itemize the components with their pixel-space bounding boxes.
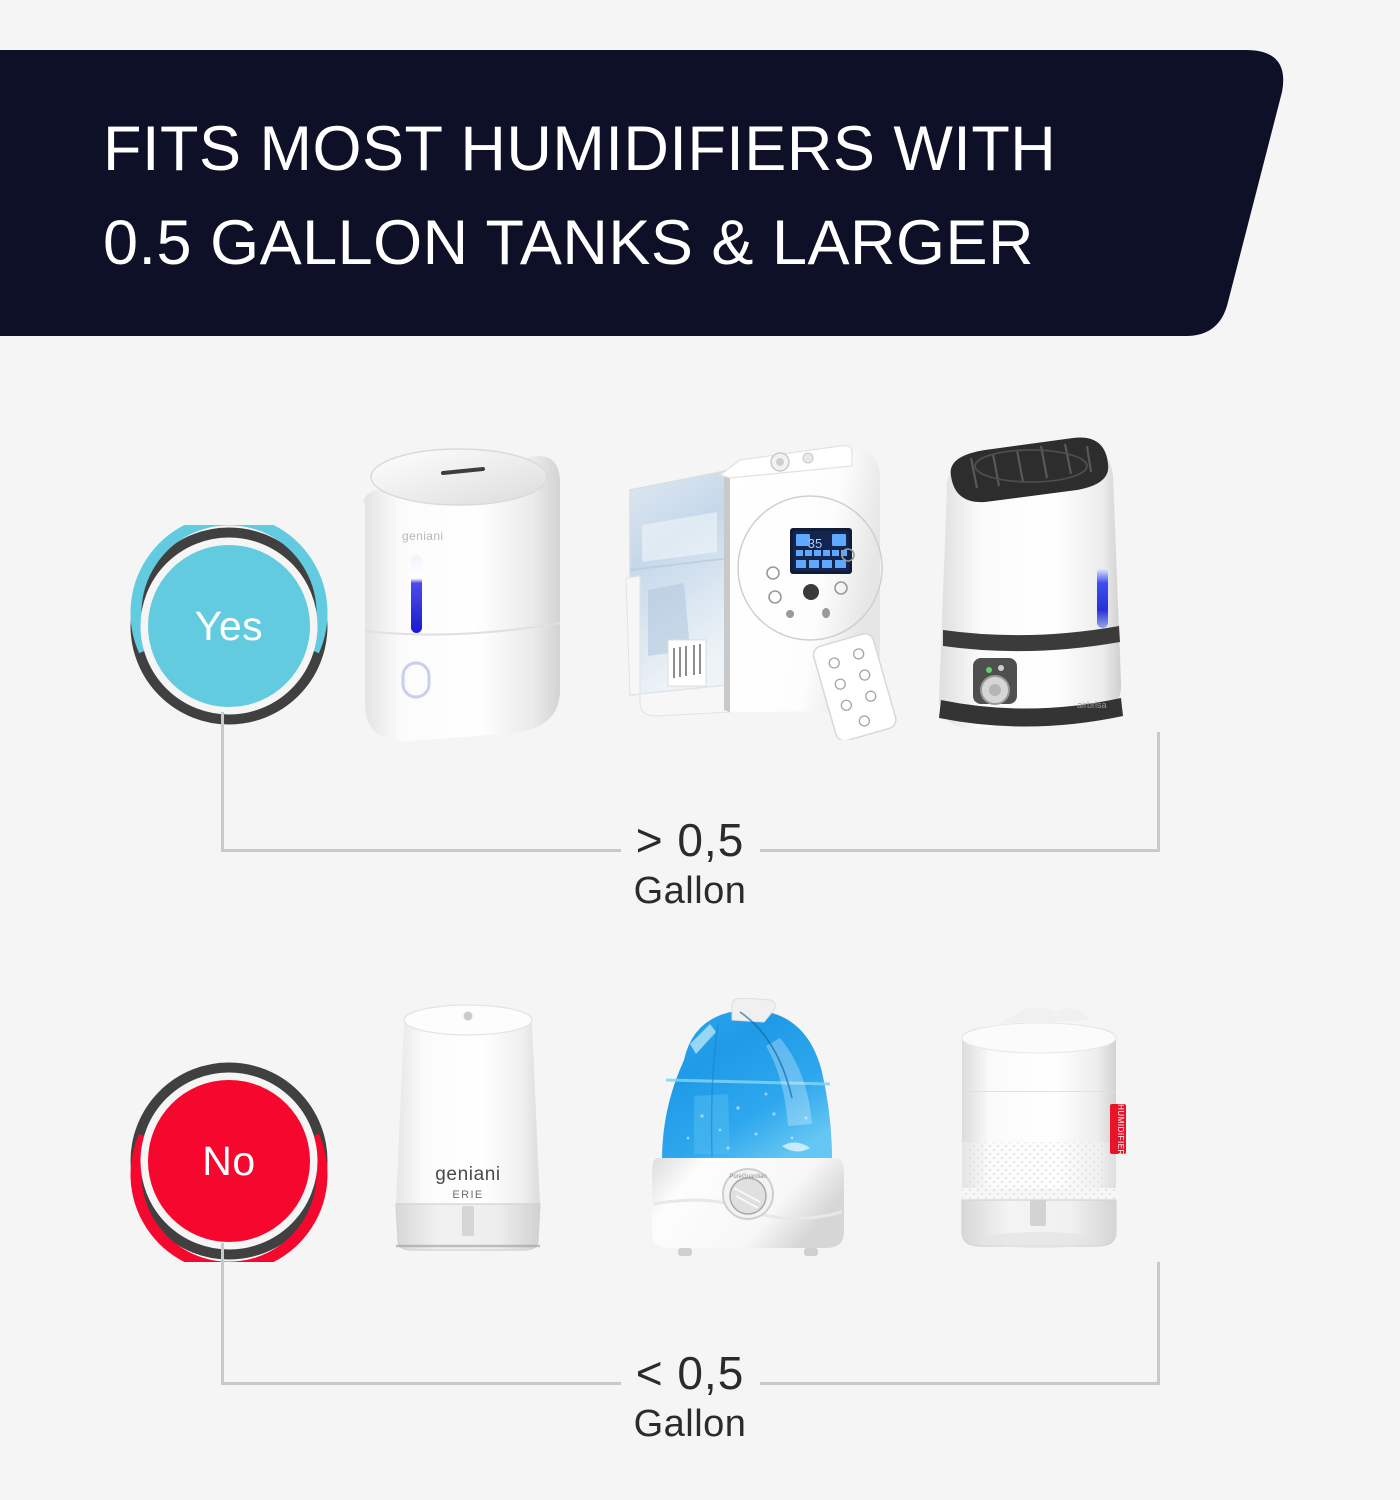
bracket-no-right-vertical [1157,1262,1160,1384]
bracket-yes-caption-sub: Gallon [560,869,820,913]
bracket-yes-caption: > 0,5 Gallon [560,815,820,913]
header-banner: FITS MOST HUMIDIFIERS WITH 0.5 GALLON TA… [0,50,1290,336]
banner-title-line-2: 0.5 GALLON TANKS & LARGER [103,196,1213,290]
bracket-no-caption-main: < 0,5 [560,1348,820,1398]
bracket-no-right-horizontal [760,1382,1160,1385]
bracket-yes-left-vertical [221,732,224,852]
bracket-no-caption: < 0,5 Gallon [560,1348,820,1446]
bracket-yes: > 0,5 Gallon [0,400,1400,880]
bracket-no-caption-sub: Gallon [560,1402,820,1446]
bracket-no-stem [221,1243,224,1263]
comparison-row-no: No [0,930,1400,1450]
bracket-yes-right-horizontal [760,849,1160,852]
bracket-yes-caption-main: > 0,5 [560,815,820,865]
banner-title-line-1: FITS MOST HUMIDIFIERS WITH [103,102,1213,196]
banner-title-group: FITS MOST HUMIDIFIERS WITH 0.5 GALLON TA… [103,102,1213,290]
bracket-yes-right-vertical [1157,732,1160,852]
bracket-yes-stem [221,712,224,734]
comparison-row-yes: Yes [0,400,1400,880]
bracket-no-left-vertical [221,1262,224,1384]
bracket-no: < 0,5 Gallon [0,930,1400,1450]
